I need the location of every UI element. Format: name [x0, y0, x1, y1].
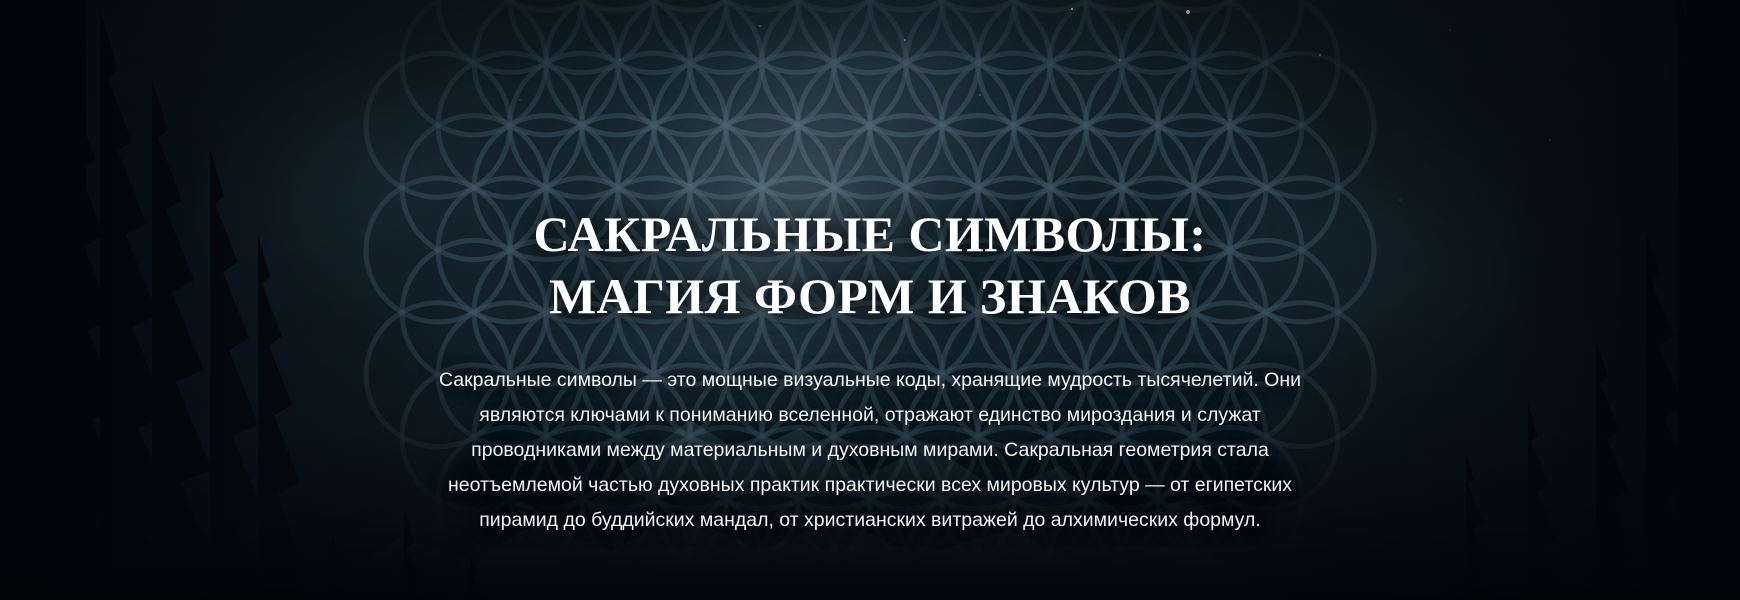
hero-description-line-1: Сакральные символы — это мощные визуальн… — [345, 363, 1395, 398]
hero-description-line-3: проводниками между материальным и духовн… — [345, 433, 1395, 468]
page-title: САКРАЛЬНЫЕ СИМВОЛЫ: МАГИЯ ФОРМ И ЗНАКОВ — [534, 203, 1207, 327]
page-title-line-2: МАГИЯ ФОРМ И ЗНАКОВ — [534, 265, 1207, 327]
hero-description: Сакральные символы — это мощные визуальн… — [345, 327, 1395, 538]
hero-banner: САКРАЛЬНЫЕ СИМВОЛЫ: МАГИЯ ФОРМ И ЗНАКОВ … — [0, 0, 1740, 600]
hero-description-line-2: являются ключами к пониманию вселенной, … — [345, 398, 1395, 433]
hero-description-line-4: неотъемлемой частью духовных практик пра… — [345, 468, 1395, 503]
page-title-line-1: САКРАЛЬНЫЕ СИМВОЛЫ: — [534, 203, 1207, 265]
hero-content: САКРАЛЬНЫЕ СИМВОЛЫ: МАГИЯ ФОРМ И ЗНАКОВ … — [0, 0, 1740, 600]
hero-description-line-5: пирамид до буддийских мандал, от христиа… — [345, 503, 1395, 538]
